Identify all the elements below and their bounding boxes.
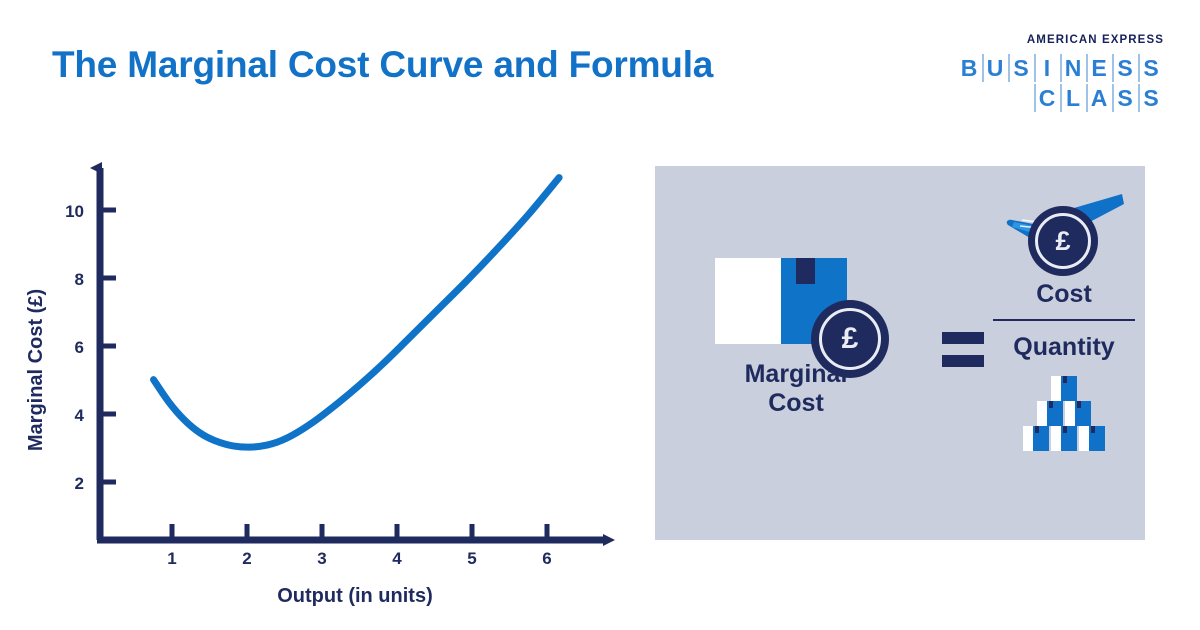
y-axis-title: Marginal Cost (£) [25, 289, 47, 451]
pound-coin-icon: £ [1028, 206, 1098, 276]
logo-letter: B [956, 53, 982, 83]
logo-letter: S [1138, 83, 1164, 113]
x-tick-label: 4 [392, 549, 402, 568]
y-tick-label: 4 [75, 406, 85, 425]
infographic-canvas: The Marginal Cost Curve and Formula AMER… [0, 0, 1200, 630]
chart-svg: 2 4 6 8 10 1 2 3 4 5 6 Output (in units)… [0, 140, 640, 620]
stacked-box [1065, 401, 1091, 426]
equals-bar-bottom [942, 355, 984, 367]
stacked-boxes-icon [1004, 376, 1124, 451]
pyramid-row-bottom [1004, 426, 1124, 451]
logo-row-business: B U S I N E S S [956, 53, 1164, 83]
marginal-cost-curve [154, 178, 560, 448]
marginal-cost-chart: 2 4 6 8 10 1 2 3 4 5 6 Output (in units)… [0, 140, 640, 620]
logo-row-class: C L A S S [1034, 83, 1164, 113]
logo-letter: S [1112, 53, 1138, 83]
logo-letter: A [1086, 83, 1112, 113]
logo-letter: N [1060, 53, 1086, 83]
y-tick-label: 2 [75, 474, 84, 493]
coin-pound-symbol: £ [819, 308, 881, 370]
equals-sign-icon [942, 332, 984, 367]
x-tick-label: 1 [167, 549, 176, 568]
marginal-cost-group: £ Marginal Cost [703, 258, 913, 418]
logo-letter: I [1034, 53, 1060, 83]
x-tick-label: 2 [242, 549, 251, 568]
cost-over-quantity-fraction: £ Cost Quantity [1000, 186, 1128, 451]
stacked-box [1037, 401, 1063, 426]
hand-holding-coin-icon: £ [1000, 186, 1128, 276]
x-tick-label: 5 [467, 549, 476, 568]
logo-letter: U [982, 53, 1008, 83]
logo-letter: S [1112, 83, 1138, 113]
x-axis-title: Output (in units) [277, 585, 433, 607]
fraction-denominator: Quantity [1000, 333, 1128, 362]
stacked-box [1023, 426, 1049, 451]
box-tape [796, 258, 816, 284]
y-tick-label: 10 [65, 202, 84, 221]
coin-pound-symbol: £ [1035, 213, 1091, 269]
marginal-cost-label-line2: Cost [703, 389, 889, 418]
logo-letter: S [1008, 53, 1034, 83]
y-tick-label: 8 [75, 270, 84, 289]
stacked-box [1079, 426, 1105, 451]
logo-letter: E [1086, 53, 1112, 83]
x-tick-label: 3 [317, 549, 326, 568]
amex-business-class-logo: AMERICAN EXPRESS B U S I N E S S C L A S… [950, 34, 1164, 113]
box-with-coin-icon: £ [715, 258, 847, 344]
logo-letter: L [1060, 83, 1086, 113]
formula-panel: £ Marginal Cost £ [655, 166, 1145, 540]
box-left-face [715, 258, 781, 344]
x-tick-label: 6 [542, 549, 551, 568]
logo-letter: C [1034, 83, 1060, 113]
pyramid-row-top [1004, 376, 1124, 401]
pyramid-row-middle [1004, 401, 1124, 426]
fraction-bar [993, 319, 1135, 321]
equals-bar-top [942, 332, 984, 344]
logo-letter: S [1138, 53, 1164, 83]
y-tick-label: 6 [75, 338, 84, 357]
pound-coin-icon: £ [811, 300, 889, 378]
stacked-box [1051, 426, 1077, 451]
logo-letter-grid: B U S I N E S S C L A S S [950, 53, 1164, 113]
fraction-numerator: Cost [1000, 280, 1128, 309]
logo-american-express-text: AMERICAN EXPRESS [950, 34, 1164, 46]
page-title: The Marginal Cost Curve and Formula [52, 44, 713, 86]
stacked-box [1051, 376, 1077, 401]
